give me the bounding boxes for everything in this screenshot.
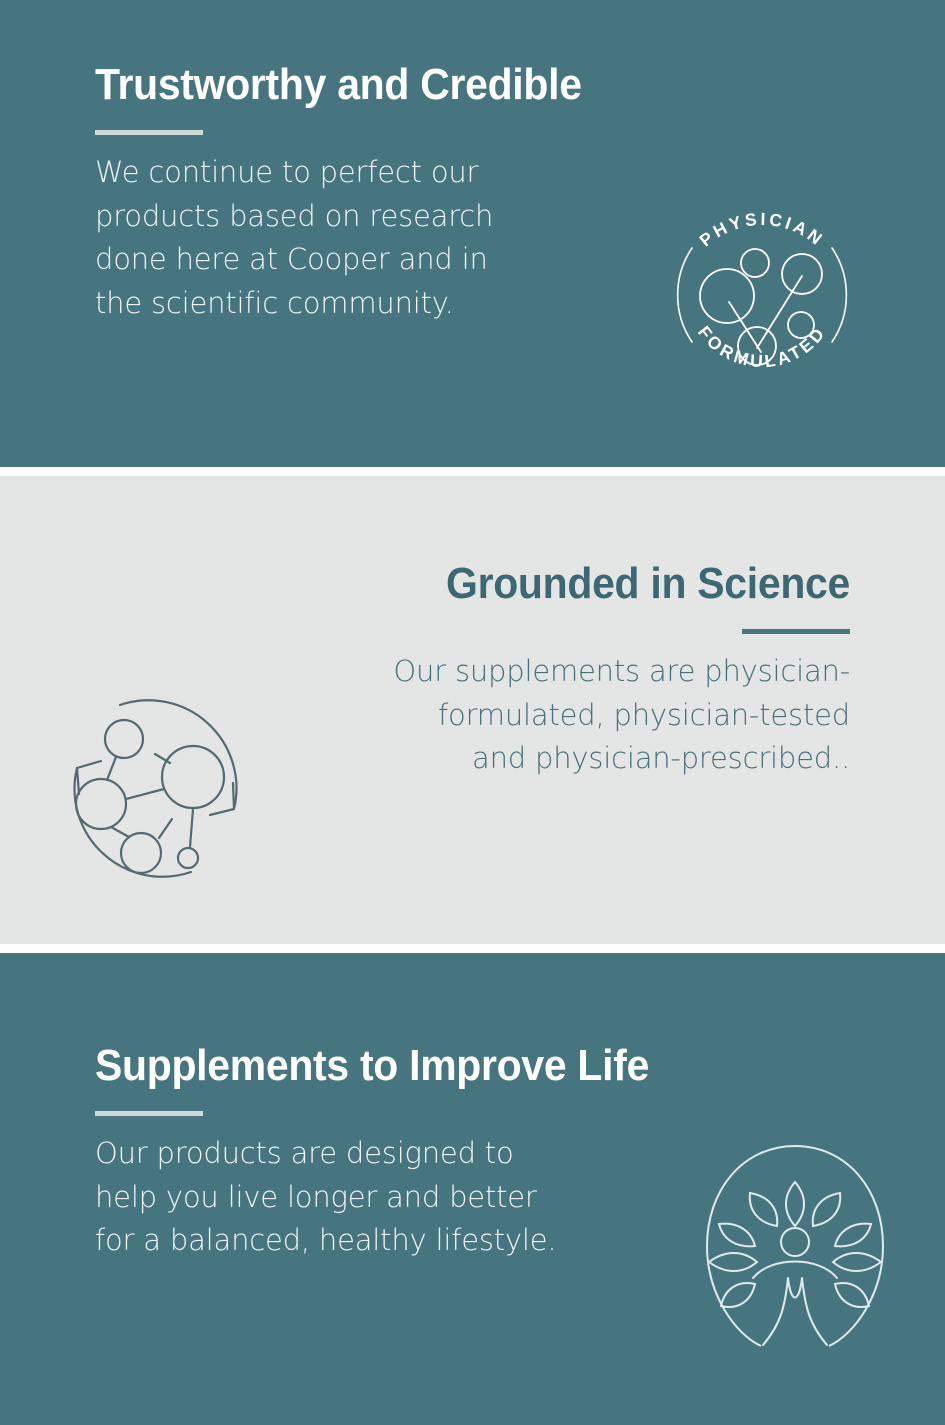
panel-1-divider [95, 130, 203, 135]
panel-1-body-line: the scientific community. [95, 286, 454, 320]
badge-arc-top-text: PHYSICIAN [696, 209, 829, 251]
panel-1-body: We continue to perfect our products base… [95, 151, 695, 325]
panel-1-body-line: done here at Cooper and in [95, 242, 488, 276]
panel-grounded-in-science: Grounded in Science Our supplements are … [0, 476, 945, 944]
panel-1-body-line: We continue to perfect our [95, 155, 478, 189]
panel-2-body-line: and physician-prescribed.. [472, 741, 850, 775]
tree-person-icon [695, 1138, 895, 1353]
panel-2-heading: Grounded in Science [366, 561, 850, 607]
panel-1-body-line: products based on research [95, 199, 493, 233]
panel-2-body-line: Our supplements are physician- [393, 654, 850, 688]
panel-1-text-block: Trustworthy and Credible We continue to … [95, 62, 695, 325]
panel-trustworthy-and-credible: Trustworthy and Credible We continue to … [0, 0, 945, 467]
panel-3-body-line: help you live longer and better [95, 1180, 537, 1214]
panel-2-divider [742, 629, 850, 634]
physician-formulated-badge-icon: PHYSICIAN FORMULATED [657, 190, 867, 400]
panel-3-text-block: Supplements to Improve Life Our products… [95, 1043, 775, 1263]
panel-supplements-to-improve-life: Supplements to Improve Life Our products… [0, 953, 945, 1425]
molecule-cycle-icon [48, 681, 263, 896]
panel-3-body-line: for a balanced, healthy lifestyle. [95, 1223, 556, 1257]
panel-1-heading: Trustworthy and Credible [95, 62, 653, 108]
panel-2-body: Our supplements are physician- formulate… [330, 650, 850, 781]
panel-3-body-line: Our products are designed to [95, 1136, 514, 1170]
panel-3-divider [95, 1111, 203, 1116]
promo-panels-page: Trustworthy and Credible We continue to … [0, 0, 945, 1425]
badge-arc-bottom-text: FORMULATED [694, 322, 830, 371]
panel-3-heading: Supplements to Improve Life [95, 1043, 727, 1089]
panel-3-body: Our products are designed to help you li… [95, 1132, 775, 1263]
panel-2-text-block: Grounded in Science Our supplements are … [330, 561, 850, 781]
panel-2-body-line: formulated, physician-tested [438, 698, 850, 732]
